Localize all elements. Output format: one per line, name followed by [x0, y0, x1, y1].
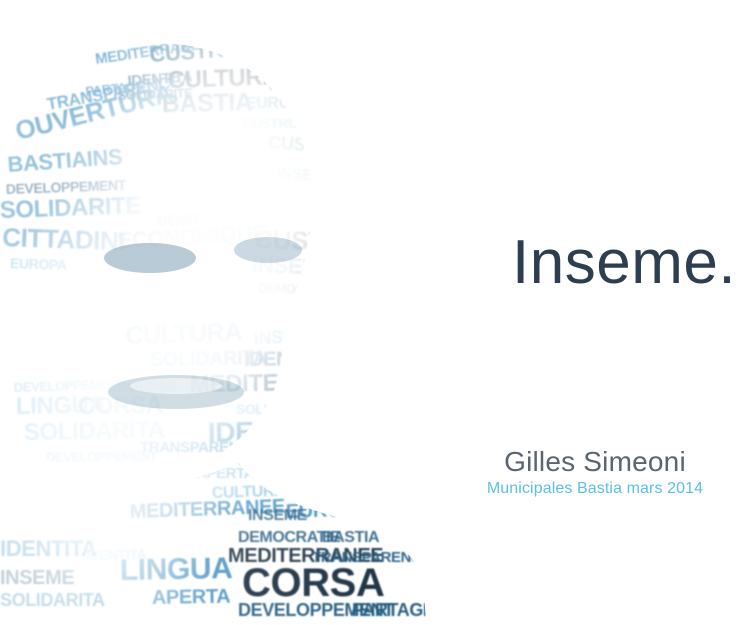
word-cloud-word: INSEME [267, 72, 338, 95]
signature-block: Gilles Simeoni Municipales Bastia mars 2… [440, 446, 750, 498]
portrait-lighting [0, 0, 440, 625]
portrait-svg: CUSTRUIRECULTURAINSEMEBASTIAEUROPACUSTRU… [0, 0, 440, 625]
word-cloud-portrait: CUSTRUIRECULTURAINSEMEBASTIAEUROPACUSTRU… [0, 0, 440, 625]
candidate-name: Gilles Simeoni [440, 446, 750, 478]
page-title: Inseme. [512, 232, 736, 294]
campaign-subtitle: Municipales Bastia mars 2014 [440, 480, 750, 498]
campaign-poster: CUSTRUIRECULTURAINSEMEBASTIAEUROPACUSTRU… [0, 0, 750, 625]
word-cloud-word: CUSTRUIMU [238, 453, 319, 469]
